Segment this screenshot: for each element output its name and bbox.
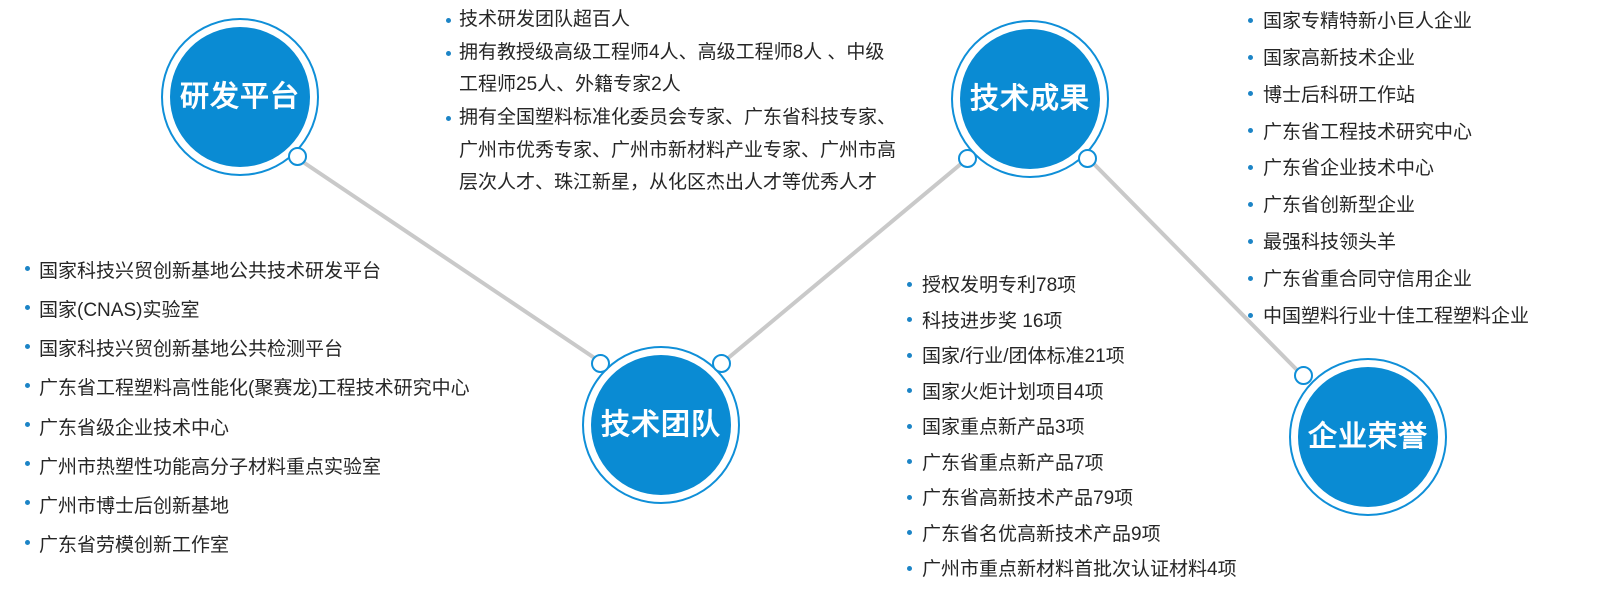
- node-disc: 研发平台: [170, 27, 310, 167]
- list-item: 广东省创新型企业: [1241, 188, 1591, 225]
- joint-tech-result-right: [1078, 149, 1097, 168]
- list-item: 授权发明专利78项: [900, 268, 1280, 304]
- list-item: 拥有全国塑料标准化委员会专家、广东省科技专家、广州市优秀专家、广州市新材料产业专…: [443, 102, 903, 200]
- list-item: 广东省重合同守信用企业: [1241, 262, 1591, 299]
- list-item: 技术研发团队超百人: [443, 4, 903, 37]
- node-disc: 技术团队: [591, 355, 731, 495]
- text-block-tech-result: 授权发明专利78项 科技进步奖 16项 国家/行业/团体标准21项 国家火炬计划…: [900, 268, 1280, 588]
- list-item: 广东省劳模创新工作室: [22, 526, 452, 565]
- text-block-rd-platform: 国家科技兴贸创新基地公共技术研发平台 国家(CNAS)实验室 国家科技兴贸创新基…: [22, 252, 452, 565]
- list-item: 广州市博士后创新基地: [22, 487, 452, 526]
- list-item: 拥有教授级高级工程师4人、高级工程师8人 、中级工程师25人、外籍专家2人: [443, 37, 903, 102]
- text-block-tech-team: 技术研发团队超百人 拥有教授级高级工程师4人、高级工程师8人 、中级工程师25人…: [443, 4, 903, 200]
- list-item: 科技进步奖 16项: [900, 304, 1280, 340]
- list-item: 广东省重点新产品7项: [900, 446, 1280, 482]
- tech-team-list: 技术研发团队超百人 拥有教授级高级工程师4人、高级工程师8人 、中级工程师25人…: [443, 4, 903, 200]
- node-label: 技术团队: [601, 411, 721, 440]
- list-item: 国家/行业/团体标准21项: [900, 339, 1280, 375]
- list-item: 国家(CNAS)实验室: [22, 291, 452, 330]
- node-disc: 企业荣誉: [1298, 367, 1438, 507]
- list-item: 国家火炬计划项目4项: [900, 375, 1280, 411]
- text-block-company-honor: 国家专精特新小巨人企业 国家高新技术企业 博士后科研工作站 广东省工程技术研究中…: [1241, 4, 1591, 336]
- list-item: 国家科技兴贸创新基地公共技术研发平台: [22, 252, 452, 291]
- list-item: 广东省工程技术研究中心: [1241, 115, 1591, 152]
- list-item: 广东省名优高新技术产品9项: [900, 517, 1280, 553]
- node-label: 研发平台: [180, 83, 300, 112]
- node-label: 企业荣誉: [1308, 423, 1428, 452]
- list-item: 国家重点新产品3项: [900, 410, 1280, 446]
- diagram-canvas: 研发平台 技术团队 技术成果 企业荣誉 技术研发团队超百人 拥有教授级高级工程师…: [0, 0, 1597, 603]
- list-item: 广东省级企业技术中心: [22, 409, 452, 448]
- list-item: 国家科技兴贸创新基地公共检测平台: [22, 330, 452, 369]
- joint-tech-team-right: [712, 354, 731, 373]
- tech-result-list: 授权发明专利78项 科技进步奖 16项 国家/行业/团体标准21项 国家火炬计划…: [900, 268, 1280, 588]
- node-disc: 技术成果: [960, 29, 1100, 169]
- joint-company-honor-left: [1294, 366, 1313, 385]
- list-item: 博士后科研工作站: [1241, 78, 1591, 115]
- list-item: 最强科技领头羊: [1241, 225, 1591, 262]
- list-item: 广州市重点新材料首批次认证材料4项: [900, 552, 1280, 588]
- node-label: 技术成果: [970, 85, 1090, 114]
- list-item: 广东省高新技术产品79项: [900, 481, 1280, 517]
- node-company-honor[interactable]: 企业荣誉: [1289, 358, 1447, 516]
- list-item: 国家高新技术企业: [1241, 41, 1591, 78]
- rd-platform-list: 国家科技兴贸创新基地公共技术研发平台 国家(CNAS)实验室 国家科技兴贸创新基…: [22, 252, 452, 565]
- company-honor-list: 国家专精特新小巨人企业 国家高新技术企业 博士后科研工作站 广东省工程技术研究中…: [1241, 4, 1591, 336]
- joint-tech-team-left: [591, 354, 610, 373]
- joint-rd-platform-right: [288, 147, 307, 166]
- list-item: 广东省工程塑料高性能化(聚赛龙)工程技术研究中心: [22, 369, 452, 408]
- list-item: 中国塑料行业十佳工程塑料企业: [1241, 299, 1591, 336]
- list-item: 国家专精特新小巨人企业: [1241, 4, 1591, 41]
- list-item: 广州市热塑性功能高分子材料重点实验室: [22, 448, 452, 487]
- list-item: 广东省企业技术中心: [1241, 151, 1591, 188]
- joint-tech-result-left: [958, 149, 977, 168]
